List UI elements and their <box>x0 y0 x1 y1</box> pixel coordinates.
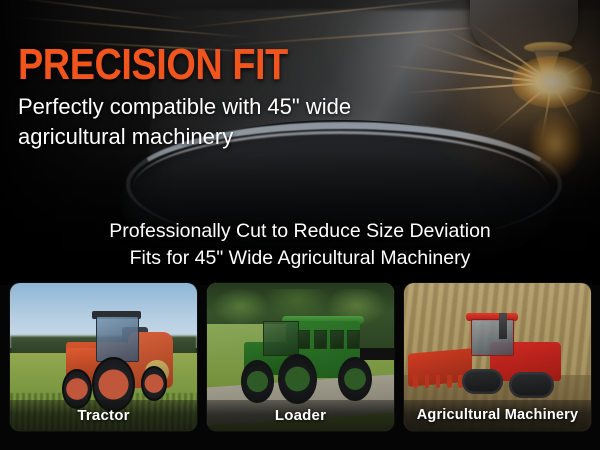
application-card-loader[interactable]: Loader <box>207 283 394 431</box>
feature-line-2: Fits for 45" Wide Agricultural Machinery <box>0 245 600 272</box>
feature-statement: Professionally Cut to Reduce Size Deviat… <box>0 218 600 272</box>
feature-line-1: Professionally Cut to Reduce Size Deviat… <box>0 218 600 245</box>
application-card-agricultural-machinery[interactable]: Agricultural Machinery <box>404 283 591 431</box>
card-caption-label: Loader <box>207 400 394 431</box>
subheadline-line-2: agricultural machinery <box>18 122 418 152</box>
application-card-list: Tractor Loader <box>10 283 592 431</box>
subheadline-line-1: Perfectly compatible with 45" wide <box>18 92 418 122</box>
headline: PRECISION FIT <box>18 42 288 88</box>
card-caption-label: Agricultural Machinery <box>404 400 591 431</box>
card-caption-label: Tractor <box>10 400 197 431</box>
application-card-tractor[interactable]: Tractor <box>10 283 197 431</box>
subheadline: Perfectly compatible with 45" wide agric… <box>18 92 418 152</box>
product-feature-banner: PRECISION FIT Perfectly compatible with … <box>0 0 600 450</box>
